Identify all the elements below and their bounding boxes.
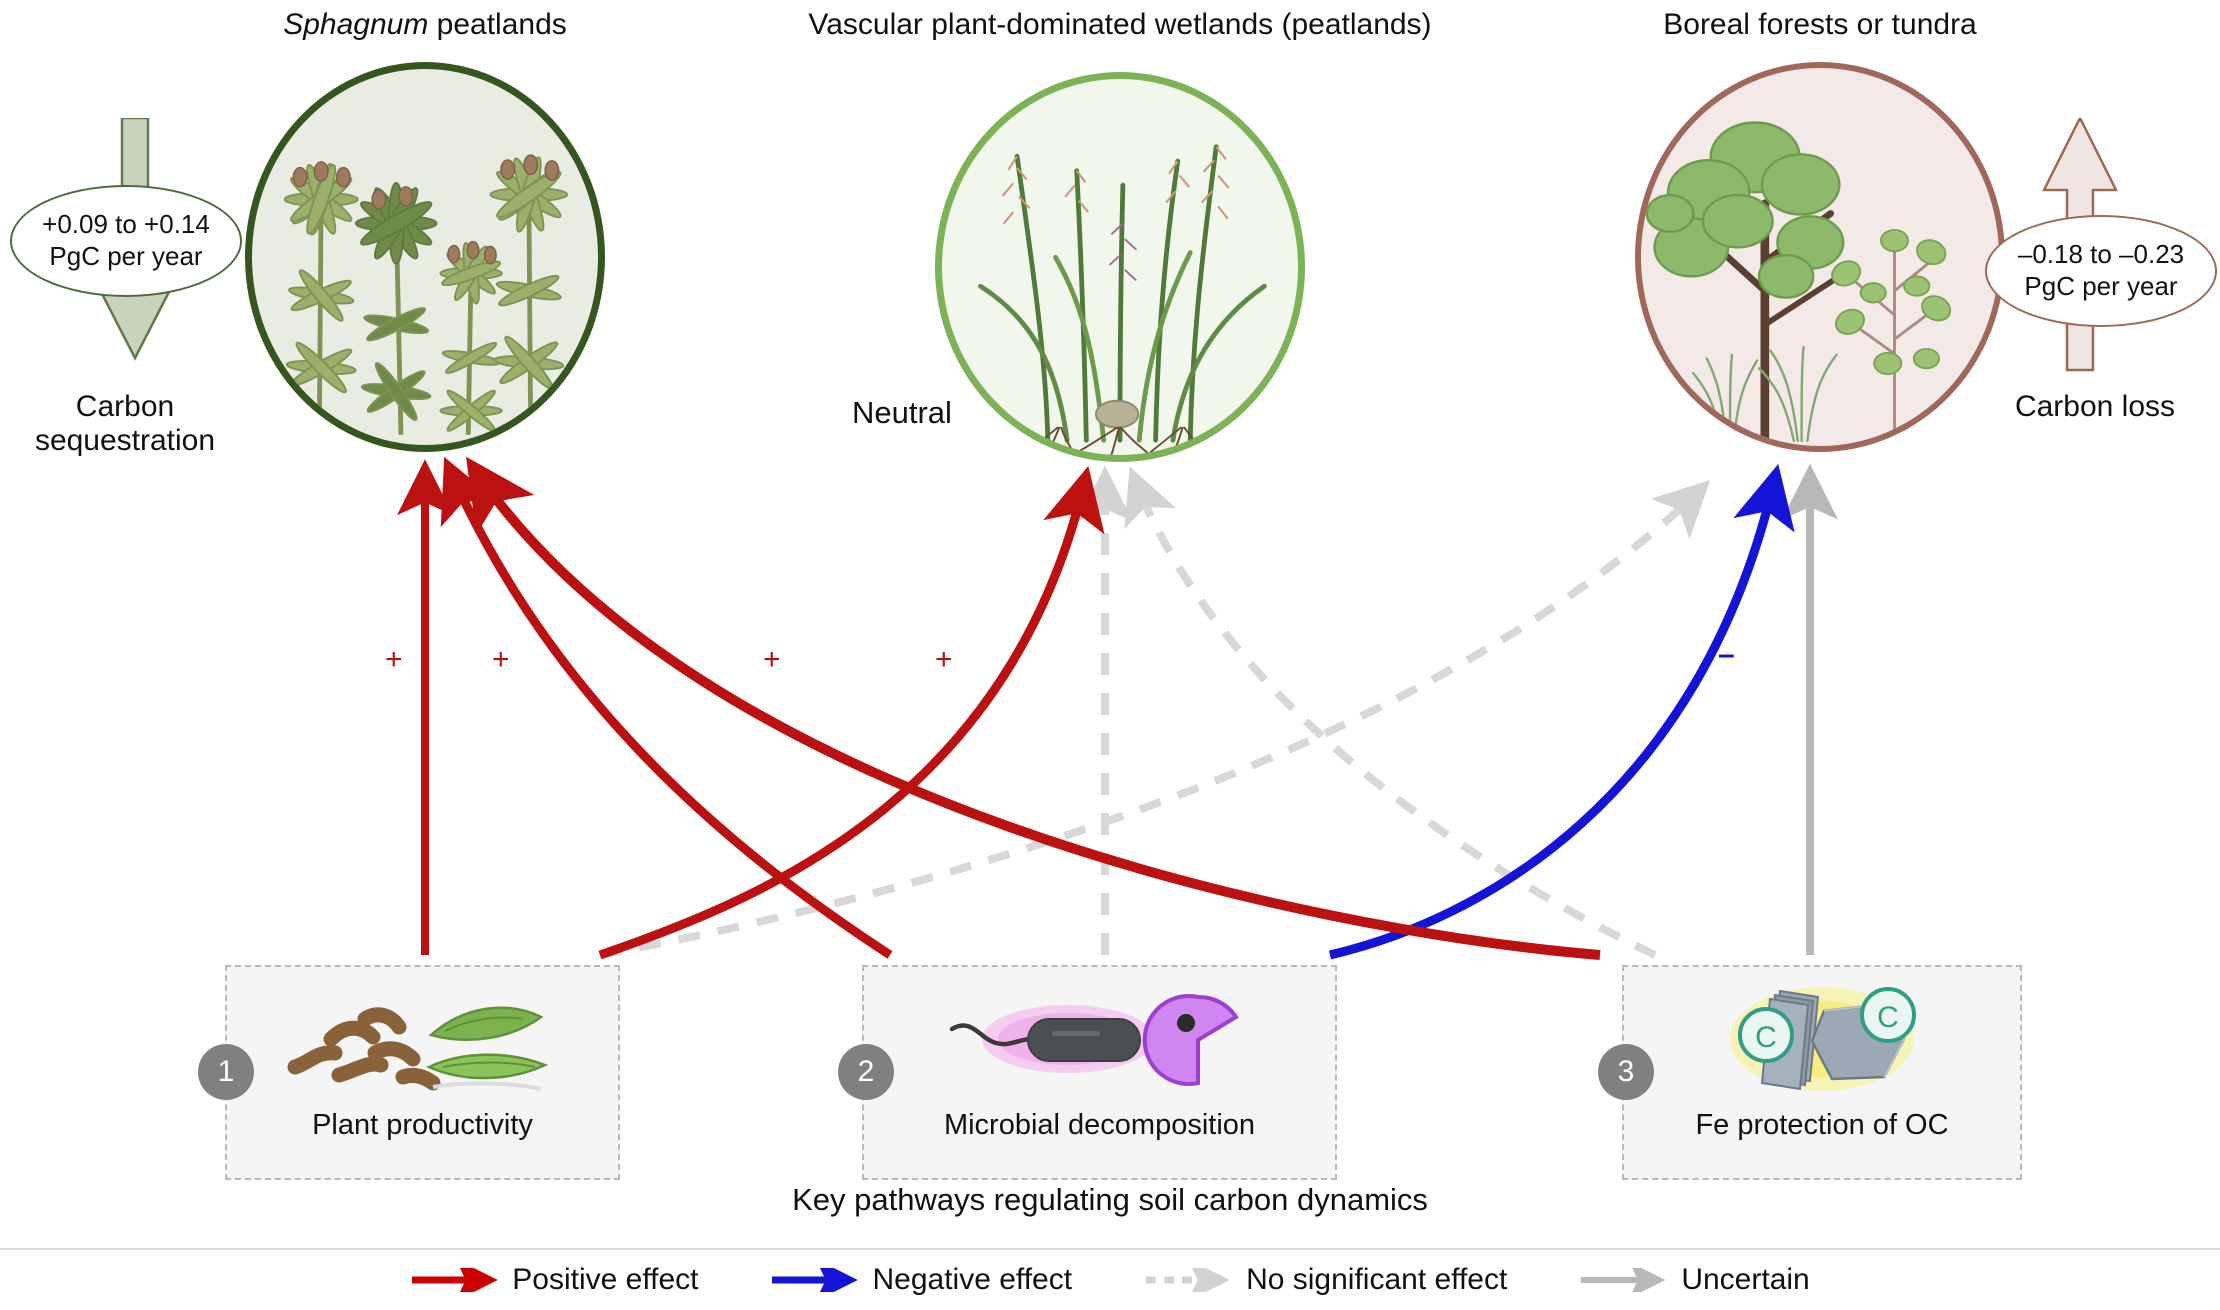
roots-and-leaves-icon [227, 989, 618, 1094]
legend-label-nonsignificant: No significant effect [1246, 1263, 1507, 1297]
sign-positive-2: + [492, 645, 510, 675]
legend-label-positive: Positive effect [512, 1263, 698, 1297]
carbon-sequestration-value-bubble: +0.09 to +0.14 PgC per year [10, 185, 242, 297]
pathway-label-3: Fe protection of OC [1624, 1109, 2020, 1142]
edge-plant-to-vascular-positive [600, 480, 1085, 955]
sign-positive-1: + [385, 645, 403, 675]
legend-arrow-uncertain [1579, 1268, 1667, 1292]
sign-positive-4: + [935, 645, 953, 675]
bacteria-and-fungus-icon [864, 987, 1335, 1095]
pathway-badge-3: 3 [1598, 1044, 1654, 1100]
iron-mineral-carbon-icon: C C [1624, 977, 2020, 1102]
edge-microbial-to-sphagnum-positive [450, 470, 890, 955]
edge-microbial-to-boreal-negative [1330, 478, 1775, 955]
flux-right-value-line1: –0.18 to –0.23 [2018, 239, 2184, 271]
flux-right-value-line2: PgC per year [2024, 271, 2177, 303]
carbon-loss-value-bubble: –0.18 to –0.23 PgC per year [1985, 215, 2217, 327]
pathway-badge-2: 2 [838, 1044, 894, 1100]
pathway-label-1: Plant productivity [227, 1109, 618, 1142]
flux-left-value-line1: +0.09 to +0.14 [42, 209, 210, 241]
legend-arrow-negative [770, 1268, 858, 1292]
legend: Positive effect Negative effect No signi… [0, 1248, 2220, 1310]
legend-label-uncertain: Uncertain [1681, 1263, 1809, 1297]
legend-label-negative: Negative effect [872, 1263, 1072, 1297]
sign-positive-3: + [763, 645, 781, 675]
legend-item-uncertain: Uncertain [1579, 1263, 1809, 1297]
pathway-box-fe-protection[interactable]: C C Fe protection of OC [1622, 965, 2022, 1180]
pathway-box-microbial-decomposition[interactable]: Microbial decomposition [862, 965, 1337, 1180]
legend-arrow-nonsignificant [1144, 1268, 1232, 1292]
legend-item-negative: Negative effect [770, 1263, 1072, 1297]
legend-item-nonsignificant: No significant effect [1144, 1263, 1507, 1297]
pathway-label-2: Microbial decomposition [864, 1109, 1335, 1142]
sign-negative-1: – [1718, 640, 1735, 670]
edge-fe-to-sphagnum-positive [475, 470, 1600, 955]
pathways-caption: Key pathways regulating soil carbon dyna… [0, 1182, 2220, 1218]
legend-item-positive: Positive effect [410, 1263, 698, 1297]
svg-text:C: C [1877, 1001, 1899, 1034]
pathway-badge-1: 1 [198, 1044, 254, 1100]
svg-text:C: C [1755, 1021, 1777, 1054]
legend-arrow-positive [410, 1268, 498, 1292]
pathway-box-plant-productivity[interactable]: Plant productivity [225, 965, 620, 1180]
flux-left-value-line2: PgC per year [49, 241, 202, 273]
